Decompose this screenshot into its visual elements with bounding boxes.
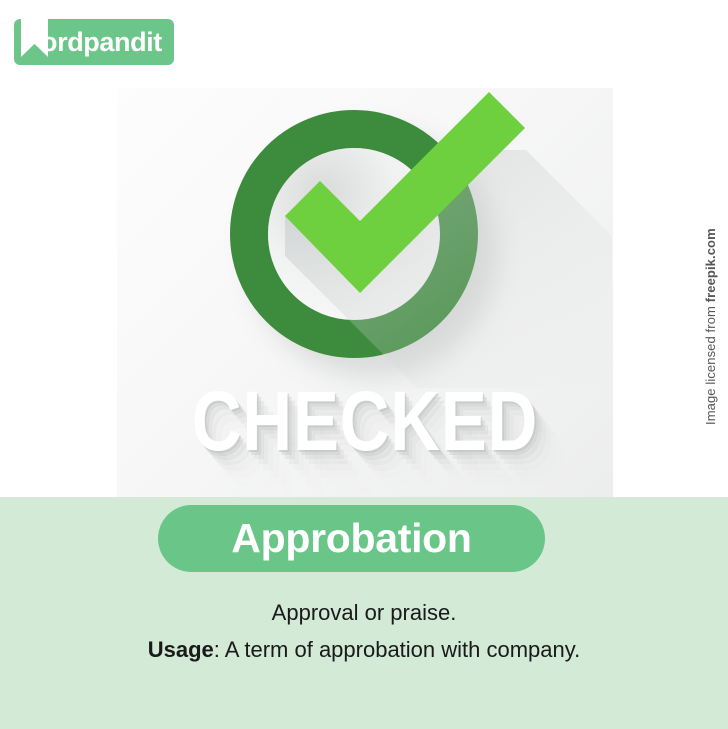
word-card-page: ordpandit CHECKED Image l <box>0 0 728 729</box>
credit-source: freepik.com <box>703 228 718 302</box>
usage-sentence: A term of approbation with company. <box>225 637 580 662</box>
word-meaning: Approval or praise. <box>0 600 728 626</box>
checkmark-shape <box>117 88 613 388</box>
word-title: Approbation <box>158 505 545 572</box>
wordpandit-logo[interactable]: ordpandit <box>14 19 174 65</box>
usage-label: Usage <box>148 637 214 662</box>
image-credit: Image licensed from freepik.com <box>703 175 725 425</box>
usage-separator: : <box>214 637 225 662</box>
logo-text: ordpandit <box>41 19 162 65</box>
illustration-caption: CHECKED <box>162 373 569 470</box>
word-definition-band: Approbation Approval or praise. Usage: A… <box>0 497 728 729</box>
credit-prefix: Image licensed from <box>703 302 718 425</box>
word-usage: Usage: A term of approbation with compan… <box>0 637 728 663</box>
illustration-panel: CHECKED <box>117 88 613 499</box>
green-check-circle-icon <box>117 88 613 388</box>
word-pill: Approbation <box>158 505 545 572</box>
